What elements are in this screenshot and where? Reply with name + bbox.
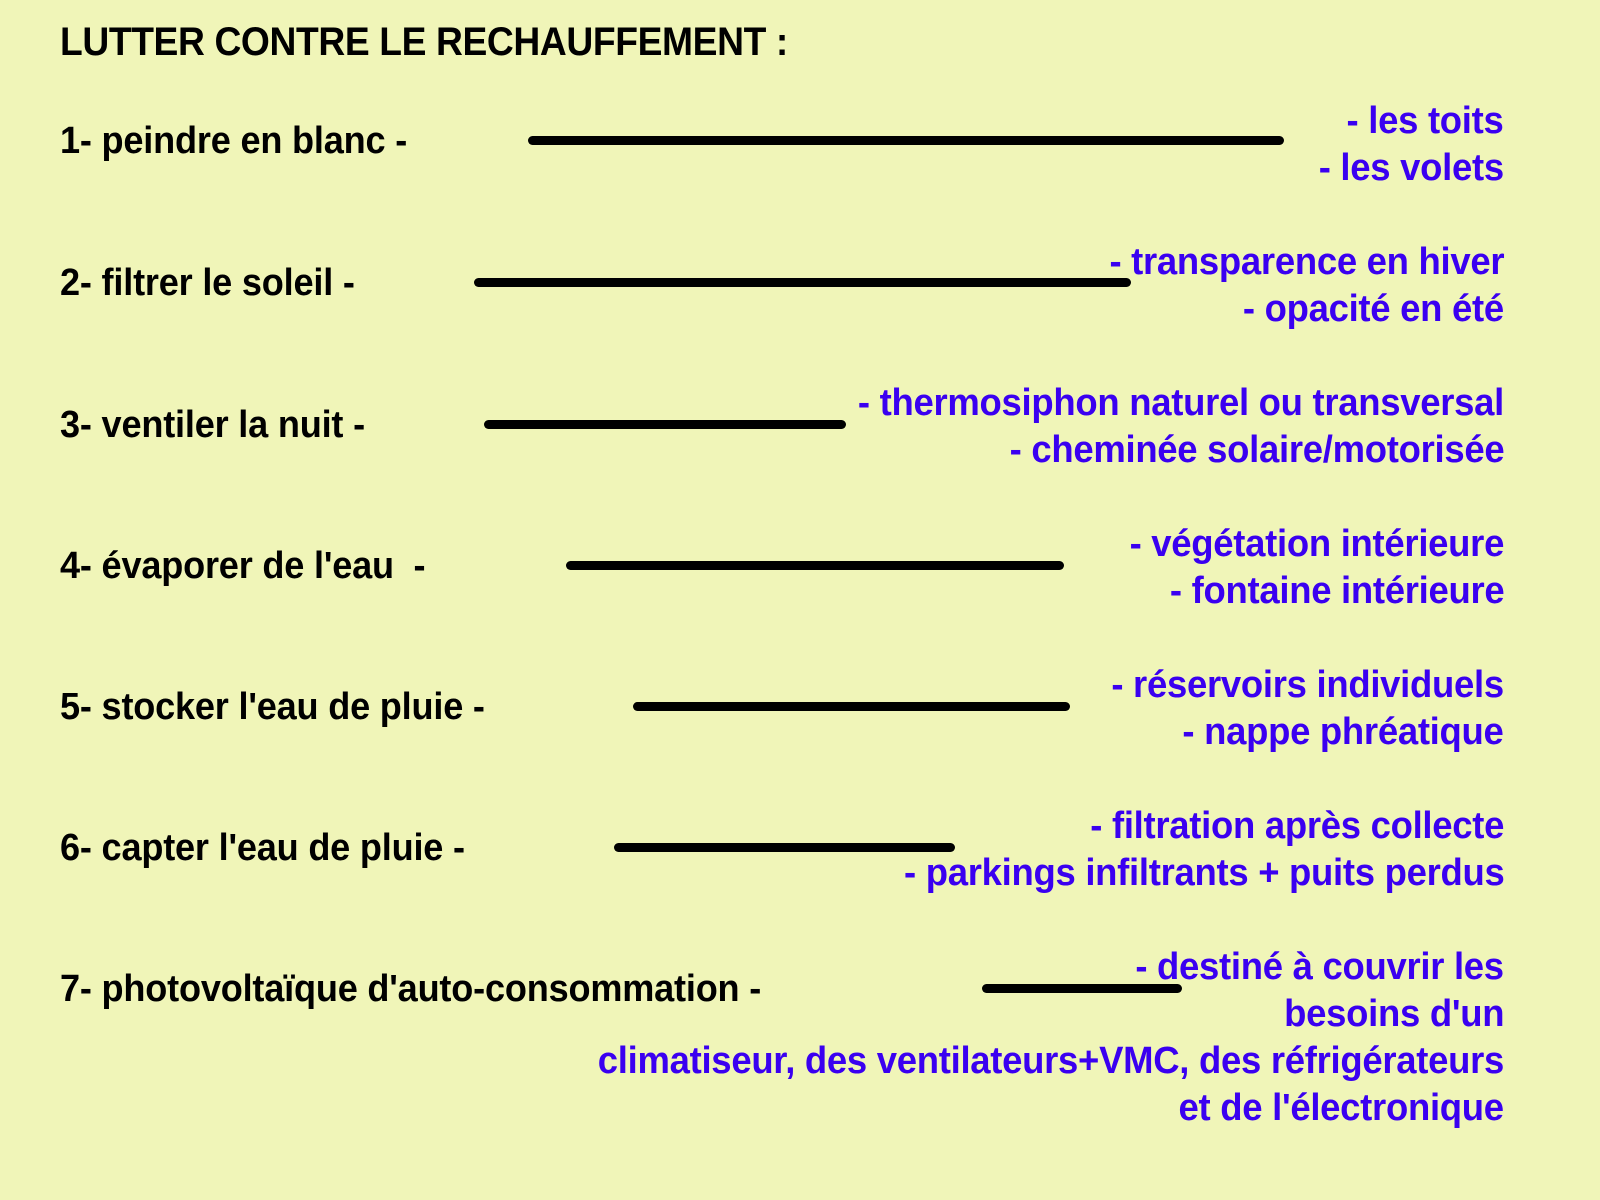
item-note-6-1: - filtration après collecte (1090, 805, 1504, 848)
connector-line-2 (474, 278, 1131, 287)
connector-line-1 (528, 136, 1284, 145)
item-label-4: 4- évaporer de l'eau - (60, 545, 425, 588)
item-label-1: 1- peindre en blanc - (60, 120, 407, 163)
item-label-2: 2- filtrer le soleil - (60, 262, 355, 305)
item-note-1-2: - les volets (1319, 147, 1504, 190)
connector-line-6 (614, 843, 955, 852)
item-note-7-3: climatiseur, des ventilateurs+VMC, des r… (598, 1040, 1504, 1083)
item-note-5-2: - nappe phréatique (1183, 711, 1504, 754)
item-note-7-2: besoins d'un (1284, 993, 1504, 1036)
item-label-3: 3- ventiler la nuit - (60, 404, 365, 447)
item-note-6-2: - parkings infiltrants + puits perdus (904, 852, 1504, 895)
item-note-4-1: - végétation intérieure (1130, 523, 1504, 566)
connector-line-5 (633, 702, 1070, 711)
page-title: LUTTER CONTRE LE RECHAUFFEMENT : (60, 20, 788, 65)
item-note-7-1: - destiné à couvrir les (1136, 946, 1504, 989)
connector-line-3 (484, 420, 846, 429)
item-label-6: 6- capter l'eau de pluie - (60, 827, 465, 870)
connector-line-4 (566, 561, 1064, 570)
item-note-1-1: - les toits (1347, 100, 1504, 143)
item-note-3-2: - cheminée solaire/motorisée (1009, 429, 1504, 472)
item-label-7: 7- photovoltaïque d'auto-consommation - (60, 968, 761, 1011)
item-note-5-1: - réservoirs individuels (1111, 664, 1504, 707)
item-note-2-2: - opacité en été (1243, 288, 1504, 331)
poster-canvas: LUTTER CONTRE LE RECHAUFFEMENT : 1- pein… (0, 0, 1600, 1200)
item-note-7-4: et de l'électronique (1179, 1087, 1504, 1130)
item-note-2-1: - transparence en hiver (1109, 241, 1504, 284)
item-note-3-1: - thermosiphon naturel ou transversal (858, 382, 1504, 425)
item-label-5: 5- stocker l'eau de pluie - (60, 686, 485, 729)
item-note-4-2: - fontaine intérieure (1170, 570, 1504, 613)
